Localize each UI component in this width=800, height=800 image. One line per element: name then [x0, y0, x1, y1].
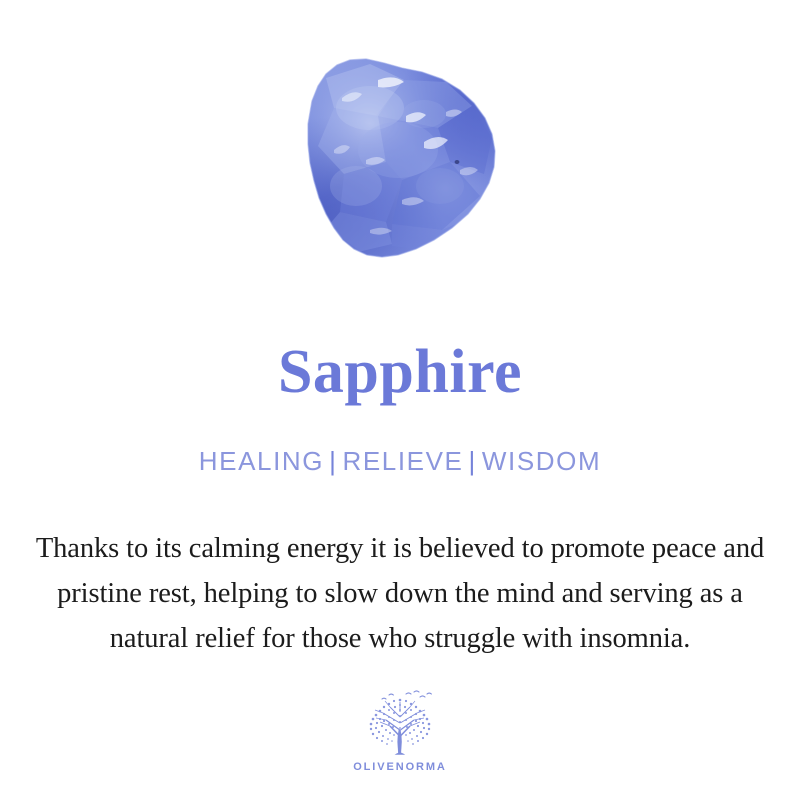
brand-logo: OLIVENORMA: [0, 688, 800, 773]
brand-wordmark: OLIVENORMA: [353, 761, 447, 773]
gemstone-image: [0, 50, 800, 290]
description-text: Thanks to its calming energy it is belie…: [28, 526, 772, 661]
keyword-relieve: RELIEVE: [342, 446, 463, 476]
keyword-separator-2: |: [464, 446, 482, 476]
tree-of-life-icon: [356, 688, 444, 760]
page-title: Sapphire: [0, 336, 800, 408]
keyword-healing: HEALING: [199, 446, 324, 476]
rough-sapphire-icon: [274, 54, 526, 286]
keyword-tagline: HEALING|RELIEVE|WISDOM: [0, 445, 800, 477]
keyword-wisdom: WISDOM: [482, 446, 601, 476]
sapphire-info-card: Sapphire HEALING|RELIEVE|WISDOM Thanks t…: [0, 0, 800, 800]
keyword-separator-1: |: [324, 446, 342, 476]
